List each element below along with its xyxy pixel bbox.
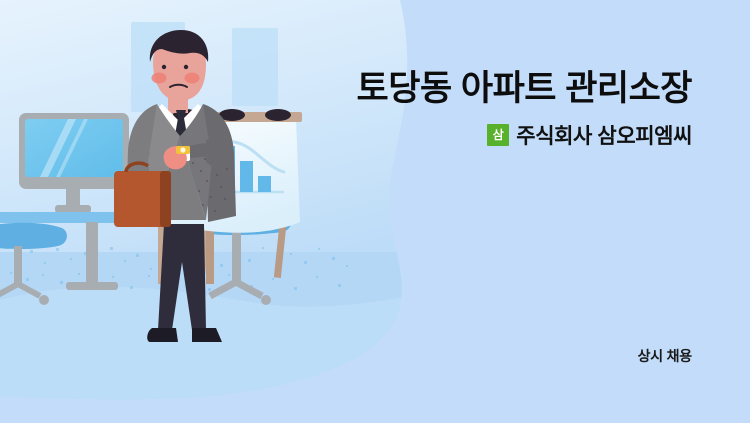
floor-highlight	[0, 287, 430, 423]
job-posting-banner: 토당동 아파트 관리소장 삼 주식회사 삼오피엠씨 상시 채용	[0, 0, 750, 423]
page-title: 토당동 아파트 관리소장	[222, 68, 692, 110]
briefcase-side	[160, 171, 171, 227]
chair-left-seat	[0, 223, 67, 249]
chair-left-wheel	[39, 295, 49, 305]
recruitment-status-label: 상시 채용	[638, 346, 692, 366]
company-badge: 삼	[487, 124, 509, 146]
chart-bar-5	[258, 176, 271, 192]
person-cheek-right	[185, 73, 200, 84]
office-illustration	[0, 0, 430, 423]
desk-foot	[66, 282, 118, 290]
person-eye-right	[184, 65, 188, 69]
chair-right-post	[232, 232, 241, 284]
chair-right-wheel	[261, 295, 271, 305]
person-eye-left	[162, 65, 166, 69]
company-row[interactable]: 삼 주식회사 삼오피엠씨	[222, 120, 692, 150]
person-cheek-left	[152, 73, 167, 84]
illustration-canvas	[0, 0, 430, 423]
person-shoe-left	[147, 328, 178, 342]
posting-text-block: 토당동 아파트 관리소장 삼 주식회사 삼오피엠씨	[222, 68, 692, 150]
company-name[interactable]: 주식회사 삼오피엠씨	[516, 120, 692, 150]
desk-leg	[86, 222, 98, 284]
illustration-scene	[0, 0, 430, 423]
wristwatch-face	[180, 147, 185, 152]
chart-bar-4	[240, 161, 253, 192]
chair-left-post	[14, 246, 22, 286]
